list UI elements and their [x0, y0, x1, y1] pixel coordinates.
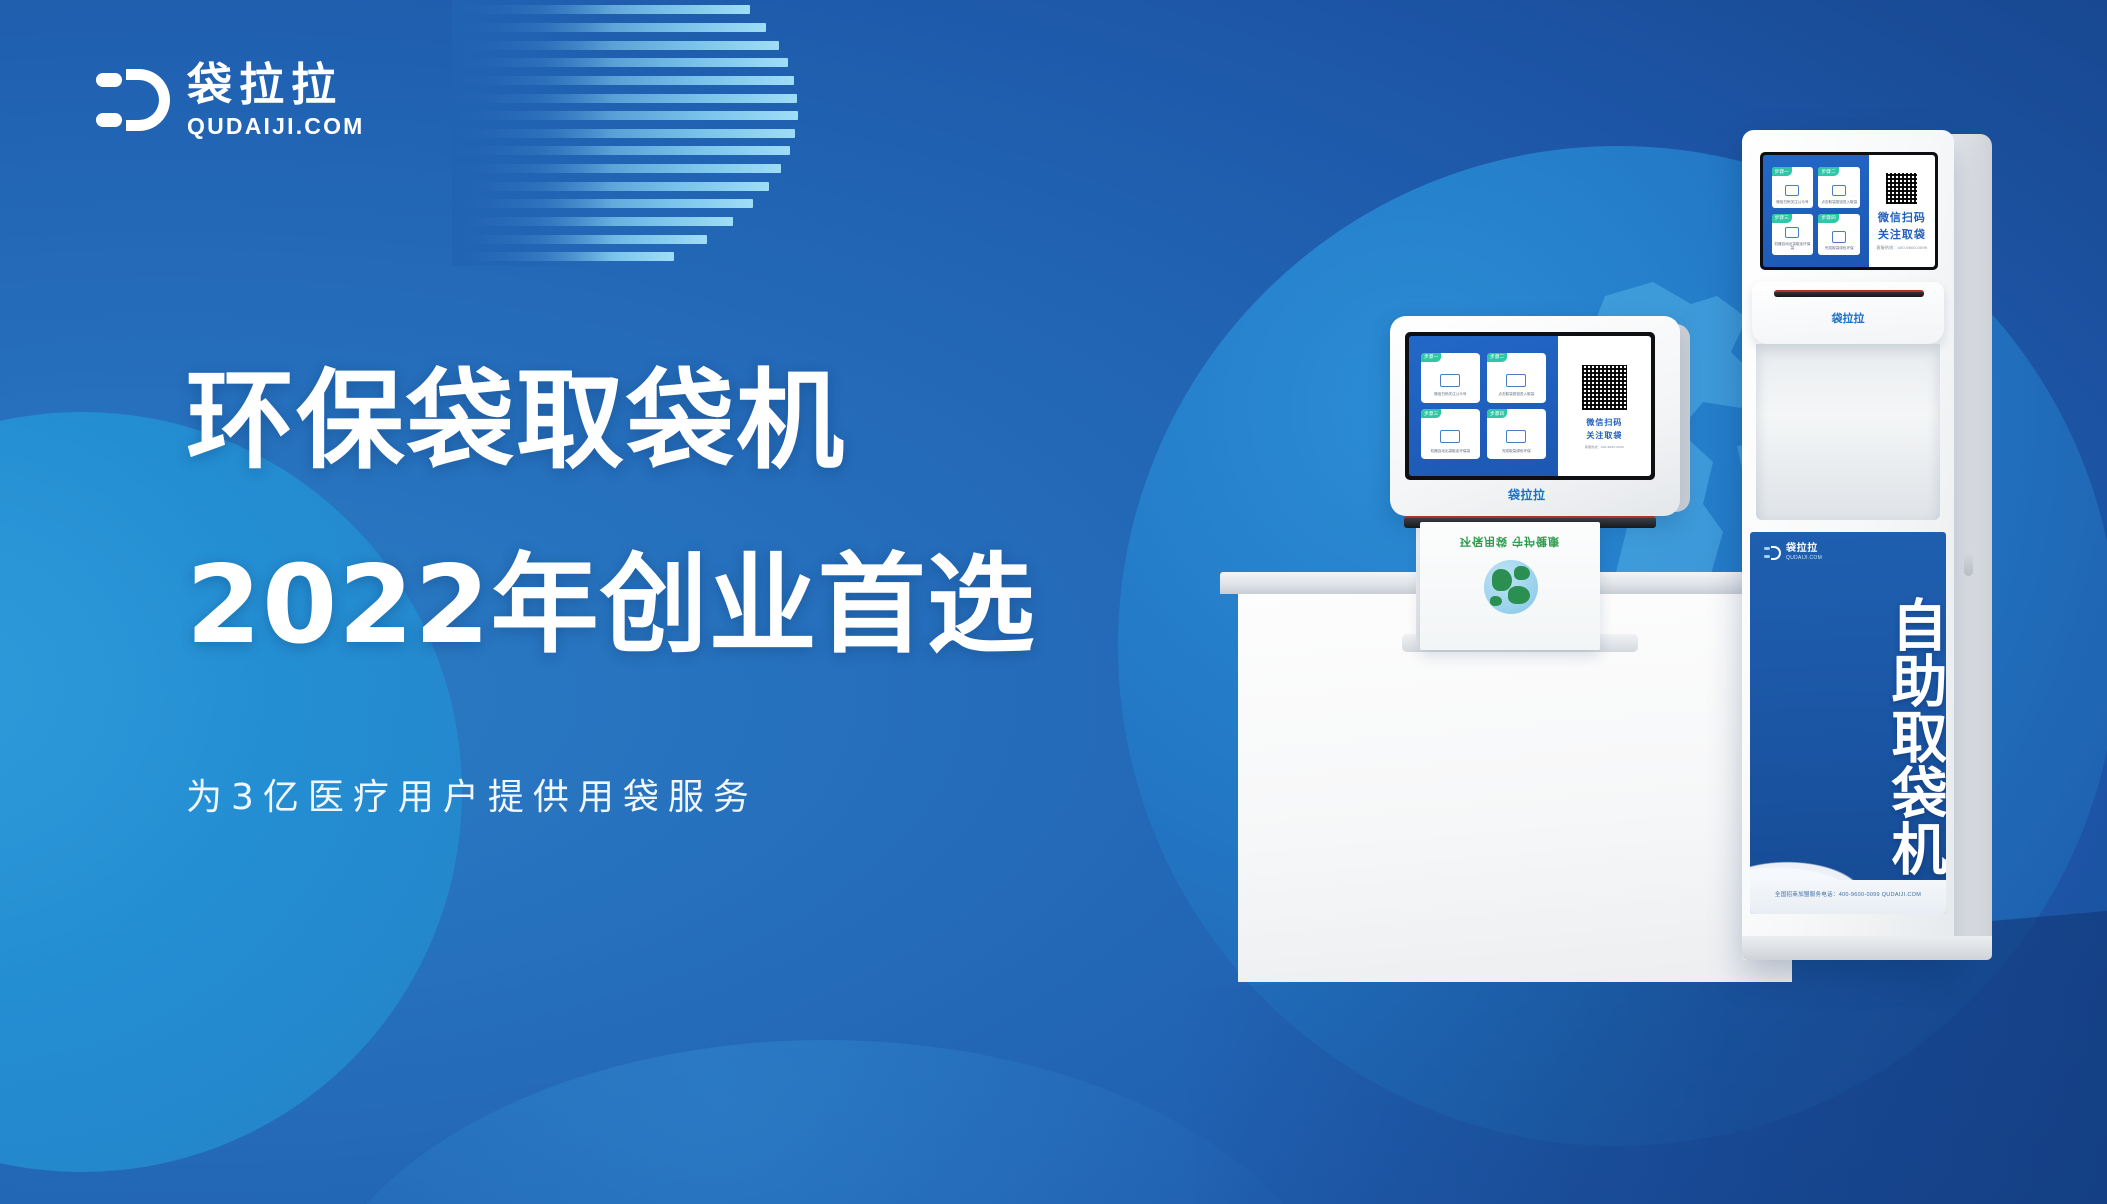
qr-hotline: 客服热线：400-9600-0099: [1876, 245, 1927, 251]
screen-steps-grid-floor: 步骤一 微信扫码关注公众号 步骤二 点击取袋按钮进入取袋 步骤三: [1763, 155, 1869, 267]
step-tag: 步骤二: [1818, 167, 1838, 176]
step-caption: 机器自动出袋取走环保袋: [1772, 242, 1814, 251]
floor-kiosk-graphic-panel: 袋拉拉 QUDAIJI.COM 自助取袋机 全国招商加盟服务电话：400-960…: [1750, 532, 1946, 914]
floor-kiosk-pickup-cavity: [1756, 344, 1940, 520]
tap-icon: [1832, 185, 1846, 196]
step-caption: 微信扫码关注公众号: [1431, 392, 1470, 396]
step-tag: 步骤四: [1487, 409, 1507, 418]
step-card: 步骤四 完成取袋绿色环保: [1818, 214, 1860, 255]
step-tag: 步骤一: [1421, 353, 1441, 362]
step-tag: 步骤三: [1421, 409, 1441, 418]
panel-wave-graphic: [1750, 790, 1946, 880]
floor-kiosk-dispense-slot: [1774, 290, 1924, 297]
tap-icon: [1506, 374, 1526, 387]
panel-footer-text: 全国招商加盟服务电话：400-9600-0099 QUDAIJI.COM: [1750, 890, 1946, 898]
screen-qr-panel-floor: 微信扫码 关注取袋 客服热线：400-9600-0099: [1869, 155, 1935, 267]
floor-kiosk-handle[interactable]: [1964, 550, 1973, 576]
panel-brand-text: 袋拉拉 QUDAIJI.COM: [1786, 544, 1822, 561]
check-icon: [1832, 231, 1846, 242]
earth-landmass: [1514, 566, 1530, 580]
screen-steps-grid-desktop: 步骤一 微信扫码关注公众号 步骤二 点击取袋按钮进入取袋 步骤三: [1409, 336, 1558, 476]
mark-d-shape: [1771, 546, 1781, 560]
wechat-qr-code[interactable]: [1580, 363, 1629, 412]
scan-icon: [1440, 374, 1460, 387]
mark-bar-top: [96, 73, 122, 87]
brand-logo[interactable]: 袋拉拉 QUDAIJI.COM: [96, 62, 365, 138]
product-scene: 步骤一 微信扫码关注公众号 步骤二 点击取袋按钮进入取袋 步骤三: [1150, 120, 2080, 1080]
hero-subline: 为3亿医疗用户提供用袋服务: [186, 768, 1036, 820]
floor-kiosk-body: 步骤一 微信扫码关注公众号 步骤二 点击取袋按钮进入取袋 步骤三: [1742, 130, 1954, 960]
brand-logo-text: 袋拉拉 QUDAIJI.COM: [187, 62, 365, 138]
qr-headline-1: 微信扫码: [1878, 209, 1926, 225]
panel-footer-bar: 全国招商加盟服务电话：400-9600-0099 QUDAIJI.COM: [1750, 880, 1946, 914]
floor-kiosk-screen[interactable]: 步骤一 微信扫码关注公众号 步骤二 点击取袋按钮进入取袋 步骤三: [1760, 152, 1938, 270]
mark-d-shape: [126, 69, 170, 131]
step-tag: 步骤四: [1818, 214, 1838, 223]
step-card: 步骤二 点击取袋按钮进入取袋: [1487, 353, 1546, 403]
counter-front-panel: [1238, 594, 1792, 982]
step-caption: 点击取袋按钮进入取袋: [1819, 200, 1860, 204]
desktop-kiosk-logo: 袋拉拉: [1508, 486, 1546, 503]
floor-kiosk-dispense-hood: 袋拉拉: [1752, 282, 1944, 344]
marketing-banner: 袋拉拉 QUDAIJI.COM 环保袋取袋机 2022年创业首选 为3亿医疗用户…: [0, 0, 2107, 1204]
step-caption: 机器自动出袋取走环保袋: [1427, 449, 1474, 453]
hero-copy-block: 环保袋取袋机 2022年创业首选 为3亿医疗用户提供用袋服务: [186, 368, 1036, 820]
step-caption: 完成取袋绿色环保: [1498, 449, 1534, 453]
panel-brand-name-cn: 袋拉拉: [1786, 544, 1822, 554]
kiosk-screen-ui-desktop: 步骤一 微信扫码关注公众号 步骤二 点击取袋按钮进入取袋 步骤三: [1409, 336, 1651, 476]
desktop-kiosk-head: 步骤一 微信扫码关注公众号 步骤二 点击取袋按钮进入取袋 步骤三: [1390, 316, 1680, 516]
desktop-kiosk: 步骤一 微信扫码关注公众号 步骤二 点击取袋按钮进入取袋 步骤三: [1390, 316, 1690, 606]
earth-icon: [1484, 560, 1538, 614]
striped-disc-mask: [452, 0, 612, 266]
scan-icon: [1785, 185, 1799, 196]
qr-headline-2: 关注取袋: [1586, 430, 1622, 441]
floor-kiosk-base: [1742, 936, 1992, 960]
step-card: 步骤一 微信扫码关注公众号: [1421, 353, 1480, 403]
step-caption: 完成取袋绿色环保: [1822, 246, 1856, 250]
step-tag: 步骤三: [1772, 214, 1792, 223]
earth-landmass: [1492, 569, 1512, 591]
floor-standing-kiosk: 步骤一 微信扫码关注公众号 步骤二 点击取袋按钮进入取袋 步骤三: [1742, 130, 1992, 960]
step-card: 步骤三 机器自动出袋取走环保袋: [1421, 409, 1480, 459]
mark-bar-top: [1764, 547, 1770, 550]
bag-slogan: 环保用袋 守护健康: [1420, 534, 1600, 550]
qr-headline-1: 微信扫码: [1586, 417, 1622, 428]
mark-bar-bottom: [1764, 555, 1770, 558]
brand-name-cn: 袋拉拉: [187, 62, 365, 107]
step-card: 步骤二 点击取袋按钮进入取袋: [1818, 167, 1860, 208]
qr-hotline: 客服热线：400-9600-0099: [1585, 445, 1624, 449]
dispense-icon: [1440, 430, 1460, 443]
earth-landmass: [1490, 596, 1502, 606]
earth-landmass: [1508, 586, 1530, 604]
panel-brand-domain: QUDAIJI.COM: [1786, 556, 1822, 561]
floor-kiosk-hood-logo: 袋拉拉: [1752, 310, 1944, 326]
panel-brand-logo: 袋拉拉 QUDAIJI.COM: [1764, 544, 1822, 561]
step-caption: 点击取袋按钮进入取袋: [1495, 392, 1538, 396]
step-tag: 步骤二: [1487, 353, 1507, 362]
dispense-icon: [1785, 227, 1799, 238]
wechat-qr-code[interactable]: [1884, 171, 1919, 206]
step-card: 步骤一 微信扫码关注公众号: [1772, 167, 1814, 208]
qudaiji-d-mark-icon: [96, 65, 170, 135]
dispensed-bag: 环保用袋 守护健康: [1420, 522, 1600, 650]
qr-headline-2: 关注取袋: [1878, 226, 1926, 242]
step-caption: 微信扫码关注公众号: [1774, 200, 1811, 204]
check-icon: [1506, 430, 1526, 443]
step-card: 步骤三 机器自动出袋取走环保袋: [1772, 214, 1814, 255]
desktop-kiosk-screen[interactable]: 步骤一 微信扫码关注公众号 步骤二 点击取袋按钮进入取袋 步骤三: [1405, 332, 1655, 480]
headline-line-1: 环保袋取袋机: [186, 368, 1036, 476]
brand-domain: QUDAIJI.COM: [187, 115, 365, 138]
kiosk-screen-ui-floor: 步骤一 微信扫码关注公众号 步骤二 点击取袋按钮进入取袋 步骤三: [1763, 155, 1935, 267]
step-card: 步骤四 完成取袋绿色环保: [1487, 409, 1546, 459]
headline-line-2: 2022年创业首选: [186, 552, 1036, 660]
mark-bar-bottom: [96, 113, 122, 127]
qudaiji-d-mark-icon: [1764, 545, 1781, 561]
step-tag: 步骤一: [1772, 167, 1792, 176]
screen-qr-panel-desktop: 微信扫码 关注取袋 客服热线：400-9600-0099: [1558, 336, 1651, 476]
